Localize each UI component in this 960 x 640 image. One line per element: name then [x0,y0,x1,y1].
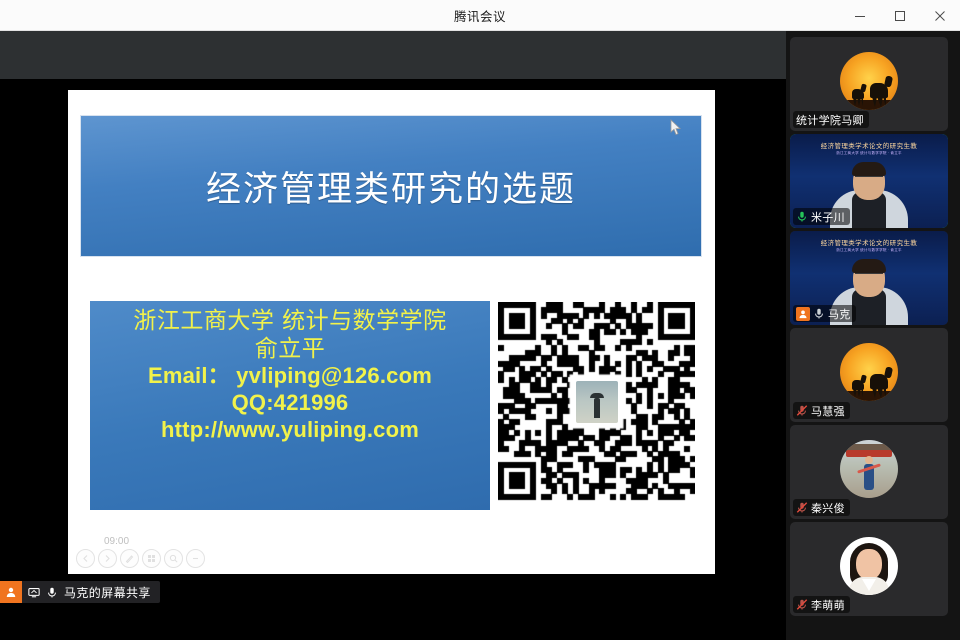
slide-info-line: http://www.yuliping.com [161,417,419,444]
participant-name-chip: 李萌萌 [793,596,850,613]
video-banner-subtitle: 浙江工商大学 统计与数学学院 · 俞立平 [800,248,938,253]
mouse-cursor [670,119,682,136]
microphone-muted-icon [796,598,808,611]
close-icon[interactable] [920,0,960,31]
slide-title: 经济管理类研究的选题 [206,161,576,212]
more-options-icon[interactable] [186,549,205,568]
participant-name-chip: 米子川 [793,208,850,225]
participant-tile[interactable]: 马慧强 [790,328,948,422]
participant-tile[interactable]: 统计学院马卿 [790,37,948,131]
screen-share-statusbar: 马克的屏幕共享 [0,576,786,608]
participant-name: 统计学院马卿 [796,112,864,128]
microphone-muted-icon [796,501,808,514]
microphone-icon [46,586,58,599]
qr-center-avatar [574,379,620,425]
screen-share-icon [28,586,40,599]
participant-name: 李萌萌 [811,597,845,613]
avatar [840,440,898,498]
slide-info-line: 俞立平 [255,335,326,363]
slide-info-line: 浙江工商大学 统计与数学学院 [133,307,446,335]
participant-tile[interactable]: 李萌萌 [790,522,948,616]
tencent-meeting-window: 腾讯会议 经济管理类研究的选题 浙江工商大学 统计与数学学院 俞立平 Email… [0,0,960,640]
avatar [840,537,898,595]
stage-top-strip [0,31,786,79]
video-banner-title: 经济管理类学术论文的研究生教 [798,140,940,150]
shared-slide-document: 经济管理类研究的选题 浙江工商大学 统计与数学学院 俞立平 Email： yvl… [68,90,715,574]
microphone-muted-icon [796,404,808,417]
participant-name-chip: 马慧强 [793,402,850,419]
window-controls [840,0,960,31]
window-title: 腾讯会议 [454,6,506,25]
host-badge-icon [796,307,810,321]
slide-title-box: 经济管理类研究的选题 [80,115,702,257]
presentation-timer: 09:00 [104,536,205,547]
participant-tile[interactable]: 经济管理类学术论文的研究生教浙江工商大学 统计与数学学院 · 俞立平马克 [790,231,948,325]
screen-share-label: 马克的屏幕共享 [64,584,151,601]
screen-share-chip: 马克的屏幕共享 [0,581,160,603]
window-titlebar: 腾讯会议 [0,0,960,31]
next-slide-icon[interactable] [98,549,117,568]
maximize-icon[interactable] [880,0,920,31]
microphone-icon [796,210,808,223]
slide-info-line: QQ:421996 [232,390,349,417]
pen-icon[interactable] [120,549,139,568]
participant-name: 米子川 [811,209,845,225]
host-badge-icon [0,581,22,603]
avatar [840,52,898,110]
presentation-toolbar[interactable]: 09:00 [76,536,205,568]
slide-info-line: Email： yvliping@126.com [148,363,432,390]
minimize-icon[interactable] [840,0,880,31]
previous-slide-icon[interactable] [76,549,95,568]
avatar [840,343,898,401]
shared-screen-stage[interactable]: 经济管理类研究的选题 浙江工商大学 统计与数学学院 俞立平 Email： yvl… [0,31,786,608]
participant-tile[interactable]: 秦兴俊 [790,425,948,519]
participant-name: 秦兴俊 [811,500,845,516]
video-banner-title: 经济管理类学术论文的研究生教 [798,237,940,247]
participant-name-chip: 马克 [793,305,856,322]
slide-info-box: 浙江工商大学 统计与数学学院 俞立平 Email： yvliping@126.c… [90,301,490,510]
participant-tile[interactable]: 经济管理类学术论文的研究生教浙江工商大学 统计与数学学院 · 俞立平米子川 [790,134,948,228]
zoom-icon[interactable] [164,549,183,568]
participant-name-chip: 秦兴俊 [793,499,850,516]
participant-rail[interactable]: 统计学院马卿经济管理类学术论文的研究生教浙江工商大学 统计与数学学院 · 俞立平… [786,31,960,640]
participant-name: 马慧强 [811,403,845,419]
microphone-icon [813,307,825,320]
participant-name: 马克 [828,306,851,322]
participant-name-chip: 统计学院马卿 [793,111,869,128]
slide-grid-icon[interactable] [142,549,161,568]
wechat-qr-code [498,302,695,501]
video-banner-subtitle: 浙江工商大学 统计与数学学院 · 俞立平 [800,151,938,156]
